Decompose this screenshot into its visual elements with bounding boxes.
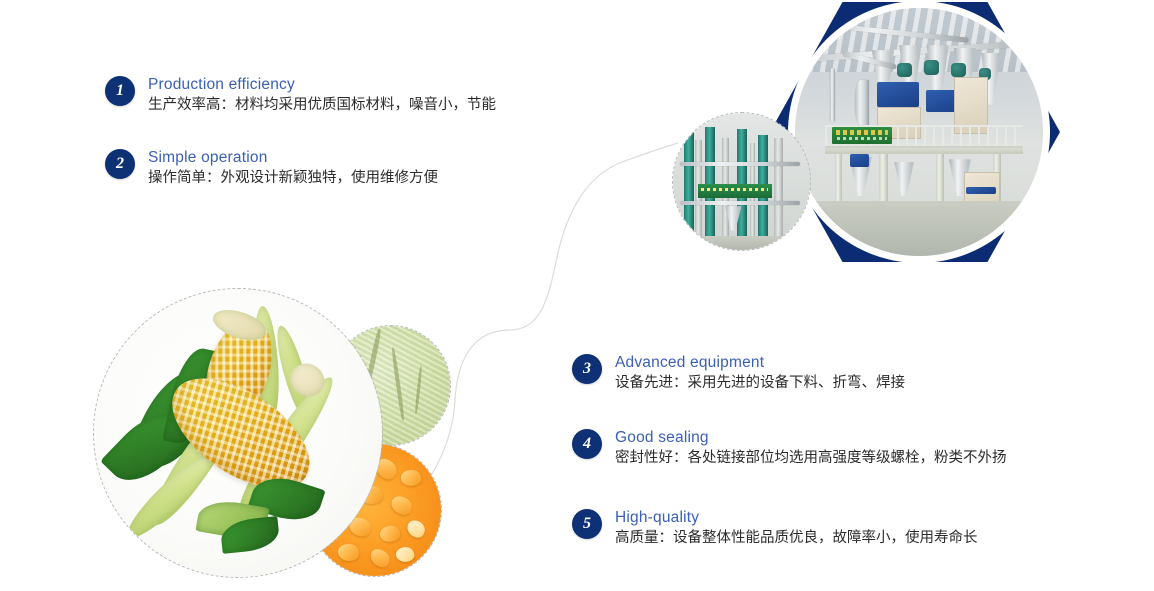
feature-desc-4: 密封性好：各处链接部位均选用高强度等级螺栓，粉类不外扬	[615, 448, 1007, 468]
feature-title-5: High-quality	[615, 508, 978, 527]
feature-desc-5: 高质量：设备整体性能品质优良，故障率小，使用寿命长	[615, 528, 978, 548]
corn-cob-photo	[93, 288, 383, 578]
feature-item-1[interactable]: 1 Production efficiency 生产效率高：材料均采用优质国标材…	[105, 75, 496, 115]
feature-text-3: Advanced equipment 设备先进：采用先进的设备下料、折弯、焊接	[615, 353, 905, 393]
feature-title-3: Advanced equipment	[615, 353, 905, 372]
feature-text-5: High-quality 高质量：设备整体性能品质优良，故障率小，使用寿命长	[615, 508, 978, 548]
feature-text-1: Production efficiency 生产效率高：材料均采用优质国标材料，…	[148, 75, 496, 115]
feature-title-2: Simple operation	[148, 148, 438, 167]
feature-title-4: Good sealing	[615, 428, 1007, 447]
teal-plant-banner	[698, 184, 772, 198]
flour-milling-plant-photo	[795, 8, 1043, 256]
feature-badge-1: 1	[105, 76, 135, 106]
feature-item-2[interactable]: 2 Simple operation 操作简单：外观设计新颖独特，使用维修方便	[105, 148, 438, 188]
feature-item-4[interactable]: 4 Good sealing 密封性好：各处链接部位均选用高强度等级螺栓，粉类不…	[572, 428, 1007, 468]
feature-text-2: Simple operation 操作简单：外观设计新颖独特，使用维修方便	[148, 148, 438, 188]
feature-desc-1: 生产效率高：材料均采用优质国标材料，噪音小，节能	[148, 95, 496, 115]
teal-milling-machinery-photo	[672, 112, 811, 251]
feature-item-5[interactable]: 5 High-quality 高质量：设备整体性能品质优良，故障率小，使用寿命长	[572, 508, 978, 548]
feature-badge-2: 2	[105, 149, 135, 179]
product-advantages-banner: 1 Production efficiency 生产效率高：材料均采用优质国标材…	[0, 0, 1154, 591]
feature-title-1: Production efficiency	[148, 75, 496, 94]
plant-banner	[832, 127, 892, 144]
feature-desc-2: 操作简单：外观设计新颖独特，使用维修方便	[148, 168, 438, 188]
feature-badge-5: 5	[572, 509, 602, 539]
feature-desc-3: 设备先进：采用先进的设备下料、折弯、焊接	[615, 373, 905, 393]
feature-badge-3: 3	[572, 354, 602, 384]
feature-text-4: Good sealing 密封性好：各处链接部位均选用高强度等级螺栓，粉类不外扬	[615, 428, 1007, 468]
feature-item-3[interactable]: 3 Advanced equipment 设备先进：采用先进的设备下料、折弯、焊…	[572, 353, 905, 393]
feature-badge-4: 4	[572, 429, 602, 459]
